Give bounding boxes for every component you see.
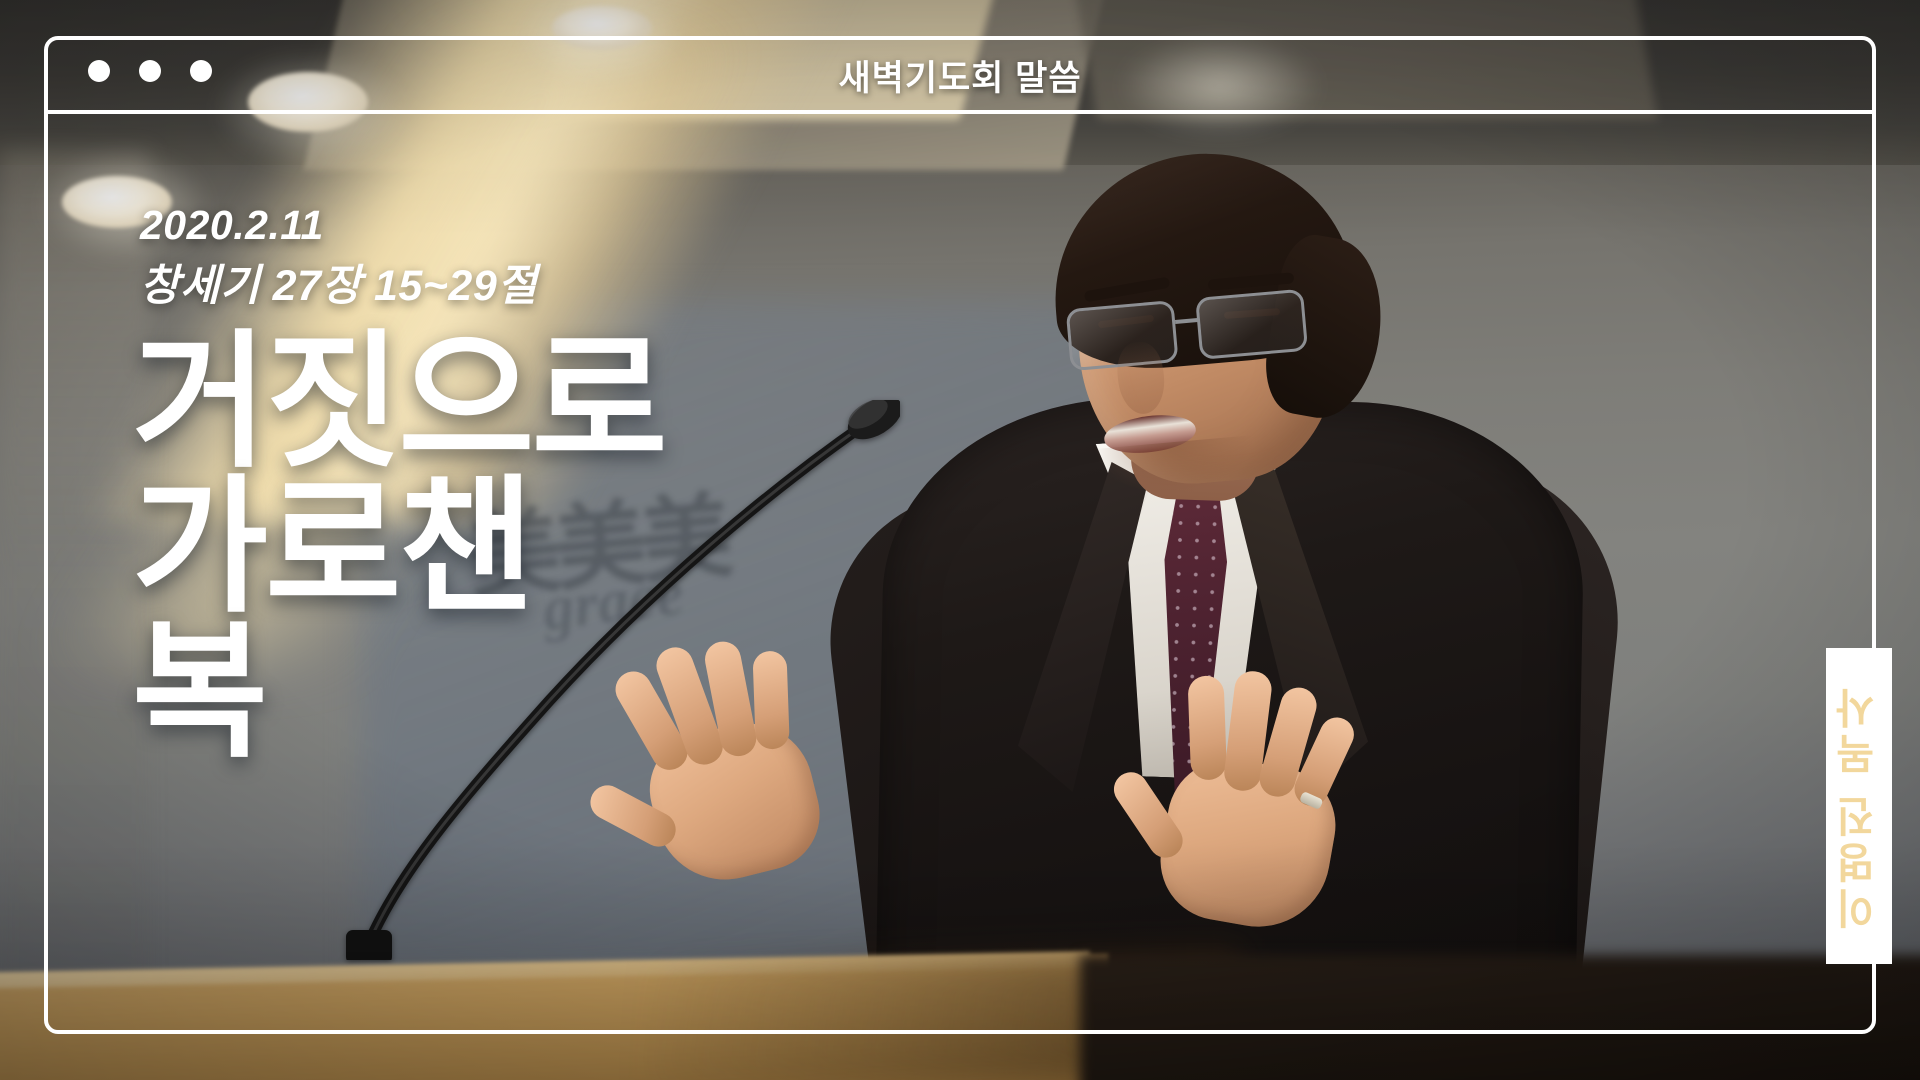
sermon-title-line-2: 가로챈 xyxy=(132,475,665,620)
speaker-name: 이명진 목사 xyxy=(1829,683,1889,929)
broadcast-slide: 美美美 grace xyxy=(0,0,1920,1080)
sermon-title-line-3: 복 xyxy=(132,620,665,765)
sermon-meta: 2020.2.11 창세기 27장 15~29절 xyxy=(140,196,537,318)
sermon-date: 2020.2.11 xyxy=(140,196,537,255)
program-title: 새벽기도회 말씀 xyxy=(0,50,1920,101)
sermon-title: 거짓으로 가로챈 복 xyxy=(132,330,665,765)
slide-frame-divider xyxy=(44,110,1876,114)
sermon-scripture: 창세기 27장 15~29절 xyxy=(140,255,537,317)
sermon-title-line-1: 거짓으로 xyxy=(132,330,665,475)
speaker-name-band: 이명진 목사 xyxy=(1826,648,1892,964)
